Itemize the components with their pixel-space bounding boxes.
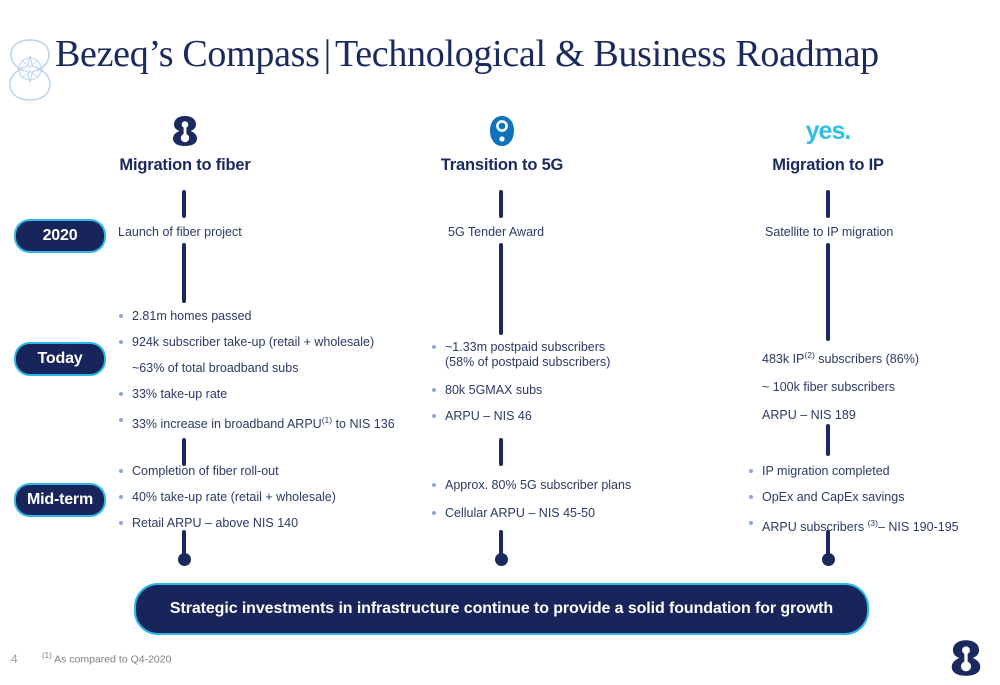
yes-logo-icon: yes. (678, 112, 978, 150)
bullet-dot-icon (119, 392, 123, 396)
list-item: Approx. 80% 5G subscriber plans (428, 478, 728, 493)
yes-logo-text: yes. (806, 119, 851, 144)
stage-badge-label: Today (38, 350, 83, 368)
list-item-text: 2.81m homes passed (132, 309, 252, 323)
list-item: ARPU subscribers (3)– NIS 190-195 (745, 516, 1000, 535)
column-heading-5g: Transition to 5G (352, 156, 652, 175)
list-item-text: IP migration completed (762, 464, 890, 478)
list-item-text-suffix: – NIS 190-195 (878, 520, 959, 534)
bullet-dot-icon (749, 495, 753, 499)
list-item-text: 40% take-up rate (retail + wholesale) (132, 490, 336, 504)
list-item-text: 924k subscriber take-up (retail + wholes… (132, 335, 374, 349)
list-item-text-suffix: to NIS 136 (332, 417, 395, 431)
bullet-dot-icon (119, 469, 123, 473)
bullet-dot-icon (119, 495, 123, 499)
list-item-text: 33% increase in broadband ARPU (132, 417, 322, 431)
list-item-text: ~ 100k fiber subscribers (762, 380, 895, 394)
list-item: Completion of fiber roll-out (115, 464, 415, 479)
bullet-dot-icon (432, 511, 436, 515)
stage-badge-label: Mid-term (27, 491, 93, 509)
slide-roadmap: Bezeq’s Compass|Technological & Business… (0, 0, 1000, 685)
list-item-text: ~1.33m postpaid subscribers (445, 340, 605, 354)
bullet-dot-icon (119, 340, 123, 344)
bullets-5g-midterm: Approx. 80% 5G subscriber plans Cellular… (428, 478, 728, 532)
bullets-5g-today: ~1.33m postpaid subscribers(58% of postp… (428, 340, 728, 435)
list-item-text: 483k IP (762, 352, 804, 366)
column-5g: Transition to 5G (352, 112, 652, 175)
column-fiber: Migration to fiber (35, 112, 335, 175)
list-item-text: Cellular ARPU – NIS 45-50 (445, 506, 595, 520)
column-ip: yes. Migration to IP (678, 112, 978, 175)
timeline-end-dot-fiber (178, 553, 191, 566)
footnote: (1) As compared to Q4-2020 (42, 651, 171, 666)
list-item: 2.81m homes passed (115, 309, 415, 324)
slide-header: Bezeq’s Compass|Technological & Business… (0, 34, 1000, 106)
list-item: ARPU – NIS 189 (745, 408, 1000, 423)
stage-badge-label: 2020 (43, 227, 78, 245)
list-item: 33% take-up rate (115, 387, 415, 402)
column-heading-fiber: Migration to fiber (35, 156, 335, 175)
list-item: 483k IP(2) subscribers (86%) (745, 348, 1000, 367)
footnote-ref: (2) (804, 350, 814, 360)
list-item-text: 33% take-up rate (132, 387, 227, 401)
list-item: 33% increase in broadband ARPU(1) to NIS… (115, 413, 415, 432)
list-item: OpEx and CapEx savings (745, 490, 1000, 505)
bullet-dot-icon (749, 521, 753, 525)
list-item-text-line2: (58% of postpaid subscribers) (445, 355, 728, 370)
bullet-dot-icon (749, 469, 753, 473)
list-item-text: OpEx and CapEx savings (762, 490, 904, 504)
bullet-dot-icon (432, 388, 436, 392)
list-item-text: Completion of fiber roll-out (132, 464, 279, 478)
stage-badge-2020[interactable]: 2020 (14, 219, 106, 253)
list-item-text: ~63% of total broadband subs (132, 361, 298, 375)
list-item-text-suffix: subscribers (86%) (815, 352, 919, 366)
list-item-text: Approx. 80% 5G subscriber plans (445, 478, 631, 492)
milestone-5g: 5G Tender Award (448, 225, 544, 239)
title-subtitle: Technological & Business Roadmap (335, 33, 879, 75)
list-item-text: Retail ARPU – above NIS 140 (132, 516, 298, 530)
list-item: ~63% of total broadband subs (115, 361, 415, 376)
footnote-marker: (1) (42, 651, 52, 660)
timeline-end-dot-ip (822, 553, 835, 566)
bullet-dot-icon (432, 483, 436, 487)
footnote-ref: (1) (322, 415, 332, 425)
list-item: 80k 5GMAX subs (428, 383, 728, 398)
bezeq-logo-icon (35, 112, 335, 150)
page-title: Bezeq’s Compass|Technological & Business… (55, 32, 879, 76)
footnote-text: As compared to Q4-2020 (54, 654, 171, 666)
timeline-end-dot-5g (495, 553, 508, 566)
list-item: 924k subscriber take-up (retail + wholes… (115, 335, 415, 350)
bezeq-logo-icon-footer (950, 639, 982, 677)
list-item: Retail ARPU – above NIS 140 (115, 516, 415, 531)
bullet-dot-icon (119, 418, 123, 422)
list-item: 40% take-up rate (retail + wholesale) (115, 490, 415, 505)
title-main: Bezeq’s Compass (55, 33, 320, 75)
list-item: ~ 100k fiber subscribers (745, 380, 1000, 395)
column-heading-ip: Migration to IP (678, 156, 978, 175)
bullet-dot-icon (119, 314, 123, 318)
bezeq-compass-logo-icon (5, 38, 55, 102)
list-item-text: ARPU – NIS 46 (445, 409, 532, 423)
page-number: 4 (11, 652, 18, 666)
bullet-dot-icon (119, 521, 123, 525)
bullets-fiber-today: 2.81m homes passed 924k subscriber take-… (115, 309, 415, 443)
summary-banner-text: Strategic investments in infrastructure … (170, 600, 833, 618)
pelephone-logo-icon (352, 112, 652, 150)
list-item-text: 80k 5GMAX subs (445, 383, 542, 397)
stage-badge-today[interactable]: Today (14, 342, 106, 376)
stage-badge-midterm[interactable]: Mid-term (14, 483, 106, 517)
bullets-fiber-midterm: Completion of fiber roll-out 40% take-up… (115, 464, 415, 542)
list-item: Cellular ARPU – NIS 45-50 (428, 506, 728, 521)
bullet-dot-icon (432, 414, 436, 418)
milestone-ip: Satellite to IP migration (765, 225, 893, 239)
list-item: ARPU – NIS 46 (428, 409, 728, 424)
bullet-dot-icon (432, 345, 436, 349)
list-item: ~1.33m postpaid subscribers(58% of postp… (428, 340, 728, 370)
title-separator: | (320, 33, 335, 75)
list-item-text: ARPU subscribers (762, 520, 868, 534)
milestone-fiber: Launch of fiber project (118, 225, 242, 239)
footnote-ref: (3) (868, 518, 878, 528)
list-item: IP migration completed (745, 464, 1000, 479)
summary-banner: Strategic investments in infrastructure … (134, 583, 869, 635)
list-item-text: ARPU – NIS 189 (762, 408, 856, 422)
bullets-ip-today: 483k IP(2) subscribers (86%) ~ 100k fibe… (745, 348, 1000, 434)
bullets-ip-midterm: IP migration completed OpEx and CapEx sa… (745, 464, 1000, 546)
